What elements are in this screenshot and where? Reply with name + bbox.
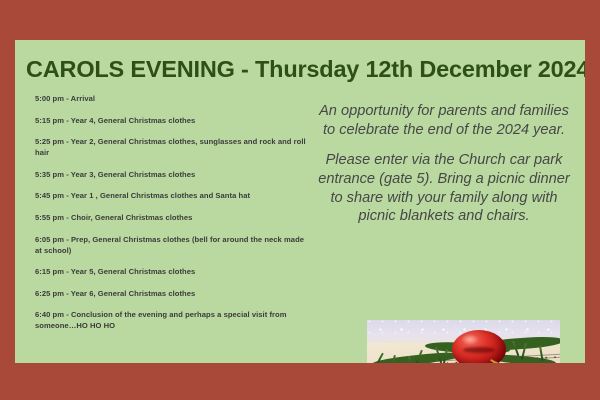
description-column: An opportunity for parents and families … [315, 102, 573, 232]
list-item: 5:25 pm - Year 2, General Christmas clot… [35, 136, 307, 158]
list-item: 6:40 pm - Conclusion of the evening and … [35, 309, 307, 331]
poster-panel: CAROLS EVENING - Thursday 12th December … [15, 40, 585, 363]
ornament-highlight [461, 334, 479, 344]
list-item: 5:55 pm - Choir, General Christmas cloth… [35, 212, 307, 223]
list-item: 6:25 pm - Year 6, General Christmas clot… [35, 288, 307, 299]
poster-canvas: CAROLS EVENING - Thursday 12th December … [0, 0, 600, 400]
ornament-band [463, 347, 495, 353]
list-item: 5:15 pm - Year 4, General Christmas clot… [35, 115, 307, 126]
schedule-list: 5:00 pm - Arrival 5:15 pm - Year 4, Gene… [35, 93, 307, 342]
list-item: 5:45 pm - Year 1 , General Christmas clo… [35, 190, 307, 201]
list-item: 5:00 pm - Arrival [35, 93, 307, 104]
list-item: 6:05 pm - Prep, General Christmas clothe… [35, 234, 307, 256]
list-item: 5:35 pm - Year 3, General Christmas clot… [35, 169, 307, 180]
description-paragraph-1: An opportunity for parents and families … [315, 102, 573, 139]
christmas-photo [367, 320, 560, 363]
christmas-ornament-icon [452, 330, 506, 363]
page-title: CAROLS EVENING - Thursday 12th December … [26, 57, 582, 83]
description-paragraph-2: Please enter via the Church car park ent… [315, 151, 573, 226]
list-item: 6:15 pm - Year 5, General Christmas clot… [35, 266, 307, 277]
